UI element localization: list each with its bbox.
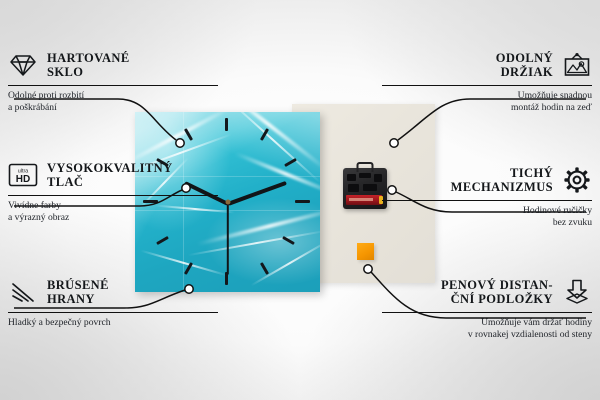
feature-title-line2: DRŽIAK [496, 65, 553, 79]
feature-rule [8, 195, 218, 196]
feature-subtitle-line1: Hodinové ručičky [382, 205, 592, 217]
feature-tichy-mechanizmus: TICHÝ MECHANIZMUS Hodinové ručičky bez z… [382, 165, 592, 228]
feature-title-line2: SKLO [47, 65, 130, 79]
svg-text:HD: HD [16, 174, 30, 185]
mechanism-hanger [357, 162, 374, 172]
foam-spacer-pad [357, 243, 374, 260]
mechanism-battery [346, 195, 382, 205]
feature-rule [382, 200, 592, 201]
feature-subtitle-line2: a výrazný obraz [8, 212, 218, 224]
clock-tick [284, 158, 297, 167]
feature-title-line2: HRANY [47, 292, 109, 306]
foam-spacer-icon [562, 277, 592, 307]
feature-subtitle-line1: Umožňuje vám držať hodiny [382, 317, 592, 329]
clock-tick [225, 118, 228, 131]
clock-center-pin [225, 200, 230, 205]
clock-minute-hand [227, 181, 287, 206]
feature-title-line1: PENOVÝ DISTAN- [441, 278, 553, 292]
feature-rule [8, 312, 218, 313]
clock-second-hand [227, 203, 229, 275]
feature-brusene-hrany: BRÚSENÉ HRANY Hladký a bezpečný povrch [8, 277, 218, 329]
feature-vysokokvalitny-tlac: ultra HD VYSOKOKVALITNÝ TLAČ Vivídne far… [8, 160, 218, 223]
feature-title-line1: BRÚSENÉ [47, 278, 109, 292]
wall-hanger-icon [562, 50, 592, 80]
clock-tick [260, 262, 269, 275]
feature-subtitle-line1: Hladký a bezpečný povrch [8, 317, 218, 329]
ultra-hd-icon: ultra HD [8, 160, 38, 190]
feature-hartovane-sklo: HARTOVANÉ SKLO Odolné proti rozbití a po… [8, 50, 218, 113]
ground-edges-icon [8, 277, 38, 307]
feature-subtitle-line2: a poškrábání [8, 102, 218, 114]
feature-title-line2: TLAČ [47, 175, 173, 189]
feature-subtitle-line2: bez zvuku [382, 217, 592, 229]
feature-rule [382, 85, 592, 86]
feature-subtitle-line1: Odolné proti rozbití [8, 90, 218, 102]
diamond-icon [8, 50, 38, 80]
infographic-stage: HARTOVANÉ SKLO Odolné proti rozbití a po… [0, 0, 600, 400]
feature-title-line1: TICHÝ [451, 166, 553, 180]
feature-penove-podlozky: PENOVÝ DISTAN- ČNÍ PODLOŽKY Umožňuje vám… [382, 277, 592, 340]
feature-title-line1: VYSOKOKVALITNÝ [47, 161, 173, 175]
feature-subtitle-line1: Umožňuje snadnou [382, 90, 592, 102]
feature-odolny-drziak: ODOLNÝ DRŽIAK Umožňuje snadnou montáž ho… [382, 50, 592, 113]
feature-title-line2: ČNÍ PODLOŽKY [441, 292, 553, 306]
clock-tick [295, 200, 310, 203]
feature-subtitle-line1: Vivídne farby [8, 200, 218, 212]
feature-rule [382, 312, 592, 313]
feature-title-line1: ODOLNÝ [496, 51, 553, 65]
feature-rule [8, 85, 218, 86]
clock-tick [156, 236, 169, 245]
gear-icon [562, 165, 592, 195]
feature-subtitle-line2: montáž hodin na zeď [382, 102, 592, 114]
feature-title-line1: HARTOVANÉ [47, 51, 130, 65]
clock-mechanism [343, 168, 387, 209]
feature-subtitle-line2: v rovnakej vzdialenosti od steny [382, 329, 592, 341]
feature-title-line2: MECHANIZMUS [451, 180, 553, 194]
